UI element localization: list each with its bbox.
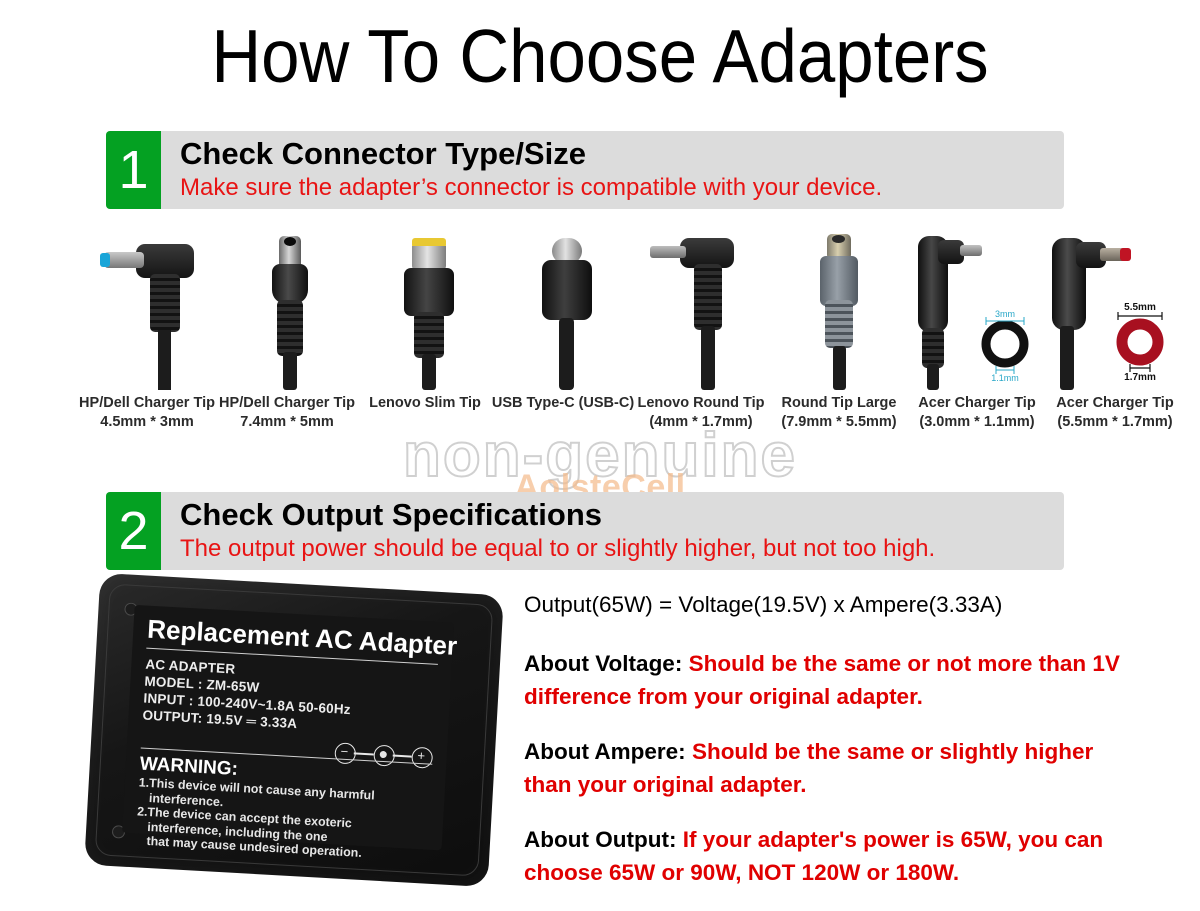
acer-55mm-ring-diagram: 5.5mm 1.7mm (1100, 298, 1180, 382)
connector-item-usb-c: USB Type-C (USB-C) (494, 232, 632, 442)
step-1-number-badge: 1 (106, 131, 161, 209)
hp-74mm-barrel-tip-icon (218, 232, 356, 392)
acer-55mm-outer-label: 5.5mm (1124, 302, 1156, 313)
polarity-line-left (354, 752, 374, 755)
step-2-subheading: The output power should be equal to or s… (180, 534, 935, 564)
about-output-label: About Output: (524, 827, 676, 852)
acer-55mm-inner-label: 1.7mm (1124, 372, 1156, 382)
connector-item-lenovo-slim: Lenovo Slim Tip (356, 232, 494, 442)
step-1-header-bar: 1 Check Connector Type/Size Make sure th… (106, 131, 1064, 209)
about-voltage-block: About Voltage: Should be the same or not… (524, 647, 1124, 713)
output-formula: Output(65W) = Voltage(19.5V) x Ampere(3.… (524, 588, 1124, 621)
usb-type-c-tip-icon (494, 232, 632, 392)
lenovo-round-angled-tip-icon (632, 232, 770, 392)
polarity-line-right (393, 755, 412, 758)
acer-30mm-angled-tip-icon: 3mm 1.1mm (908, 232, 1046, 392)
connector-label: HP/Dell Charger Tip 4.5mm * 3mm (66, 394, 228, 432)
page-title: How To Choose Adapters (48, 14, 1152, 98)
acer-30mm-outer-label: 3mm (995, 309, 1015, 319)
output-spec-text-column: Output(65W) = Voltage(19.5V) x Ampere(3.… (524, 588, 1124, 911)
connector-item-hp-45mm: HP/Dell Charger Tip 4.5mm * 3mm (78, 232, 216, 442)
ac-adapter-photo: Replacement AC Adapter AC ADAPTER MODEL … (78, 578, 508, 896)
about-ampere-label: About Ampere: (524, 739, 686, 764)
connector-item-lenovo-round: Lenovo Round Tip (4mm * 1.7mm) (632, 232, 770, 442)
connector-item-acer-55mm: 5.5mm 1.7mm Acer Charger Tip (5.5mm * 1.… (1046, 232, 1184, 442)
about-voltage-label: About Voltage: (524, 651, 682, 676)
step-2-heading: Check Output Specifications (180, 496, 935, 534)
acer-30mm-ring-diagram: 3mm 1.1mm (968, 304, 1042, 382)
adapter-body: Replacement AC Adapter AC ADAPTER MODEL … (84, 573, 504, 887)
adapter-label-title: Replacement AC Adapter (147, 614, 448, 661)
connector-item-acer-30mm: 3mm 1.1mm Acer Charger Tip (3.0mm * 1.1m… (908, 232, 1046, 442)
acer-30mm-inner-label: 1.1mm (991, 373, 1019, 382)
step-1-subheading: Make sure the adapter’s connector is com… (180, 173, 882, 203)
connector-item-round-large: Round Tip Large (7.9mm * 5.5mm) (770, 232, 908, 442)
hp-45mm-angled-tip-icon (78, 232, 216, 392)
infographic-page: How To Choose Adapters 1 Check Connector… (0, 0, 1200, 900)
step-2-number-badge: 2 (106, 492, 161, 570)
adapter-label-plate: Replacement AC Adapter AC ADAPTER MODEL … (122, 605, 454, 851)
step-1-text-group: Check Connector Type/Size Make sure the … (180, 135, 882, 203)
connector-item-hp-74mm: HP/Dell Charger Tip 7.4mm * 5mm (218, 232, 356, 442)
about-output-block: About Output: If your adapter's power is… (524, 823, 1124, 889)
step-2-header-bar: 2 Check Output Specifications The output… (106, 492, 1064, 570)
connector-gallery: HP/Dell Charger Tip 4.5mm * 3mm HP/Dell … (60, 232, 1160, 442)
step-2-text-group: Check Output Specifications The output p… (180, 496, 935, 564)
connector-label: Acer Charger Tip (5.5mm * 1.7mm) (1034, 394, 1196, 432)
about-ampere-block: About Ampere: Should be the same or slig… (524, 735, 1124, 801)
round-tip-large-icon (770, 232, 908, 392)
acer-55mm-angled-tip-icon: 5.5mm 1.7mm (1046, 232, 1184, 392)
lenovo-slim-rectangular-tip-icon (356, 232, 494, 392)
step-1-heading: Check Connector Type/Size (180, 135, 882, 173)
